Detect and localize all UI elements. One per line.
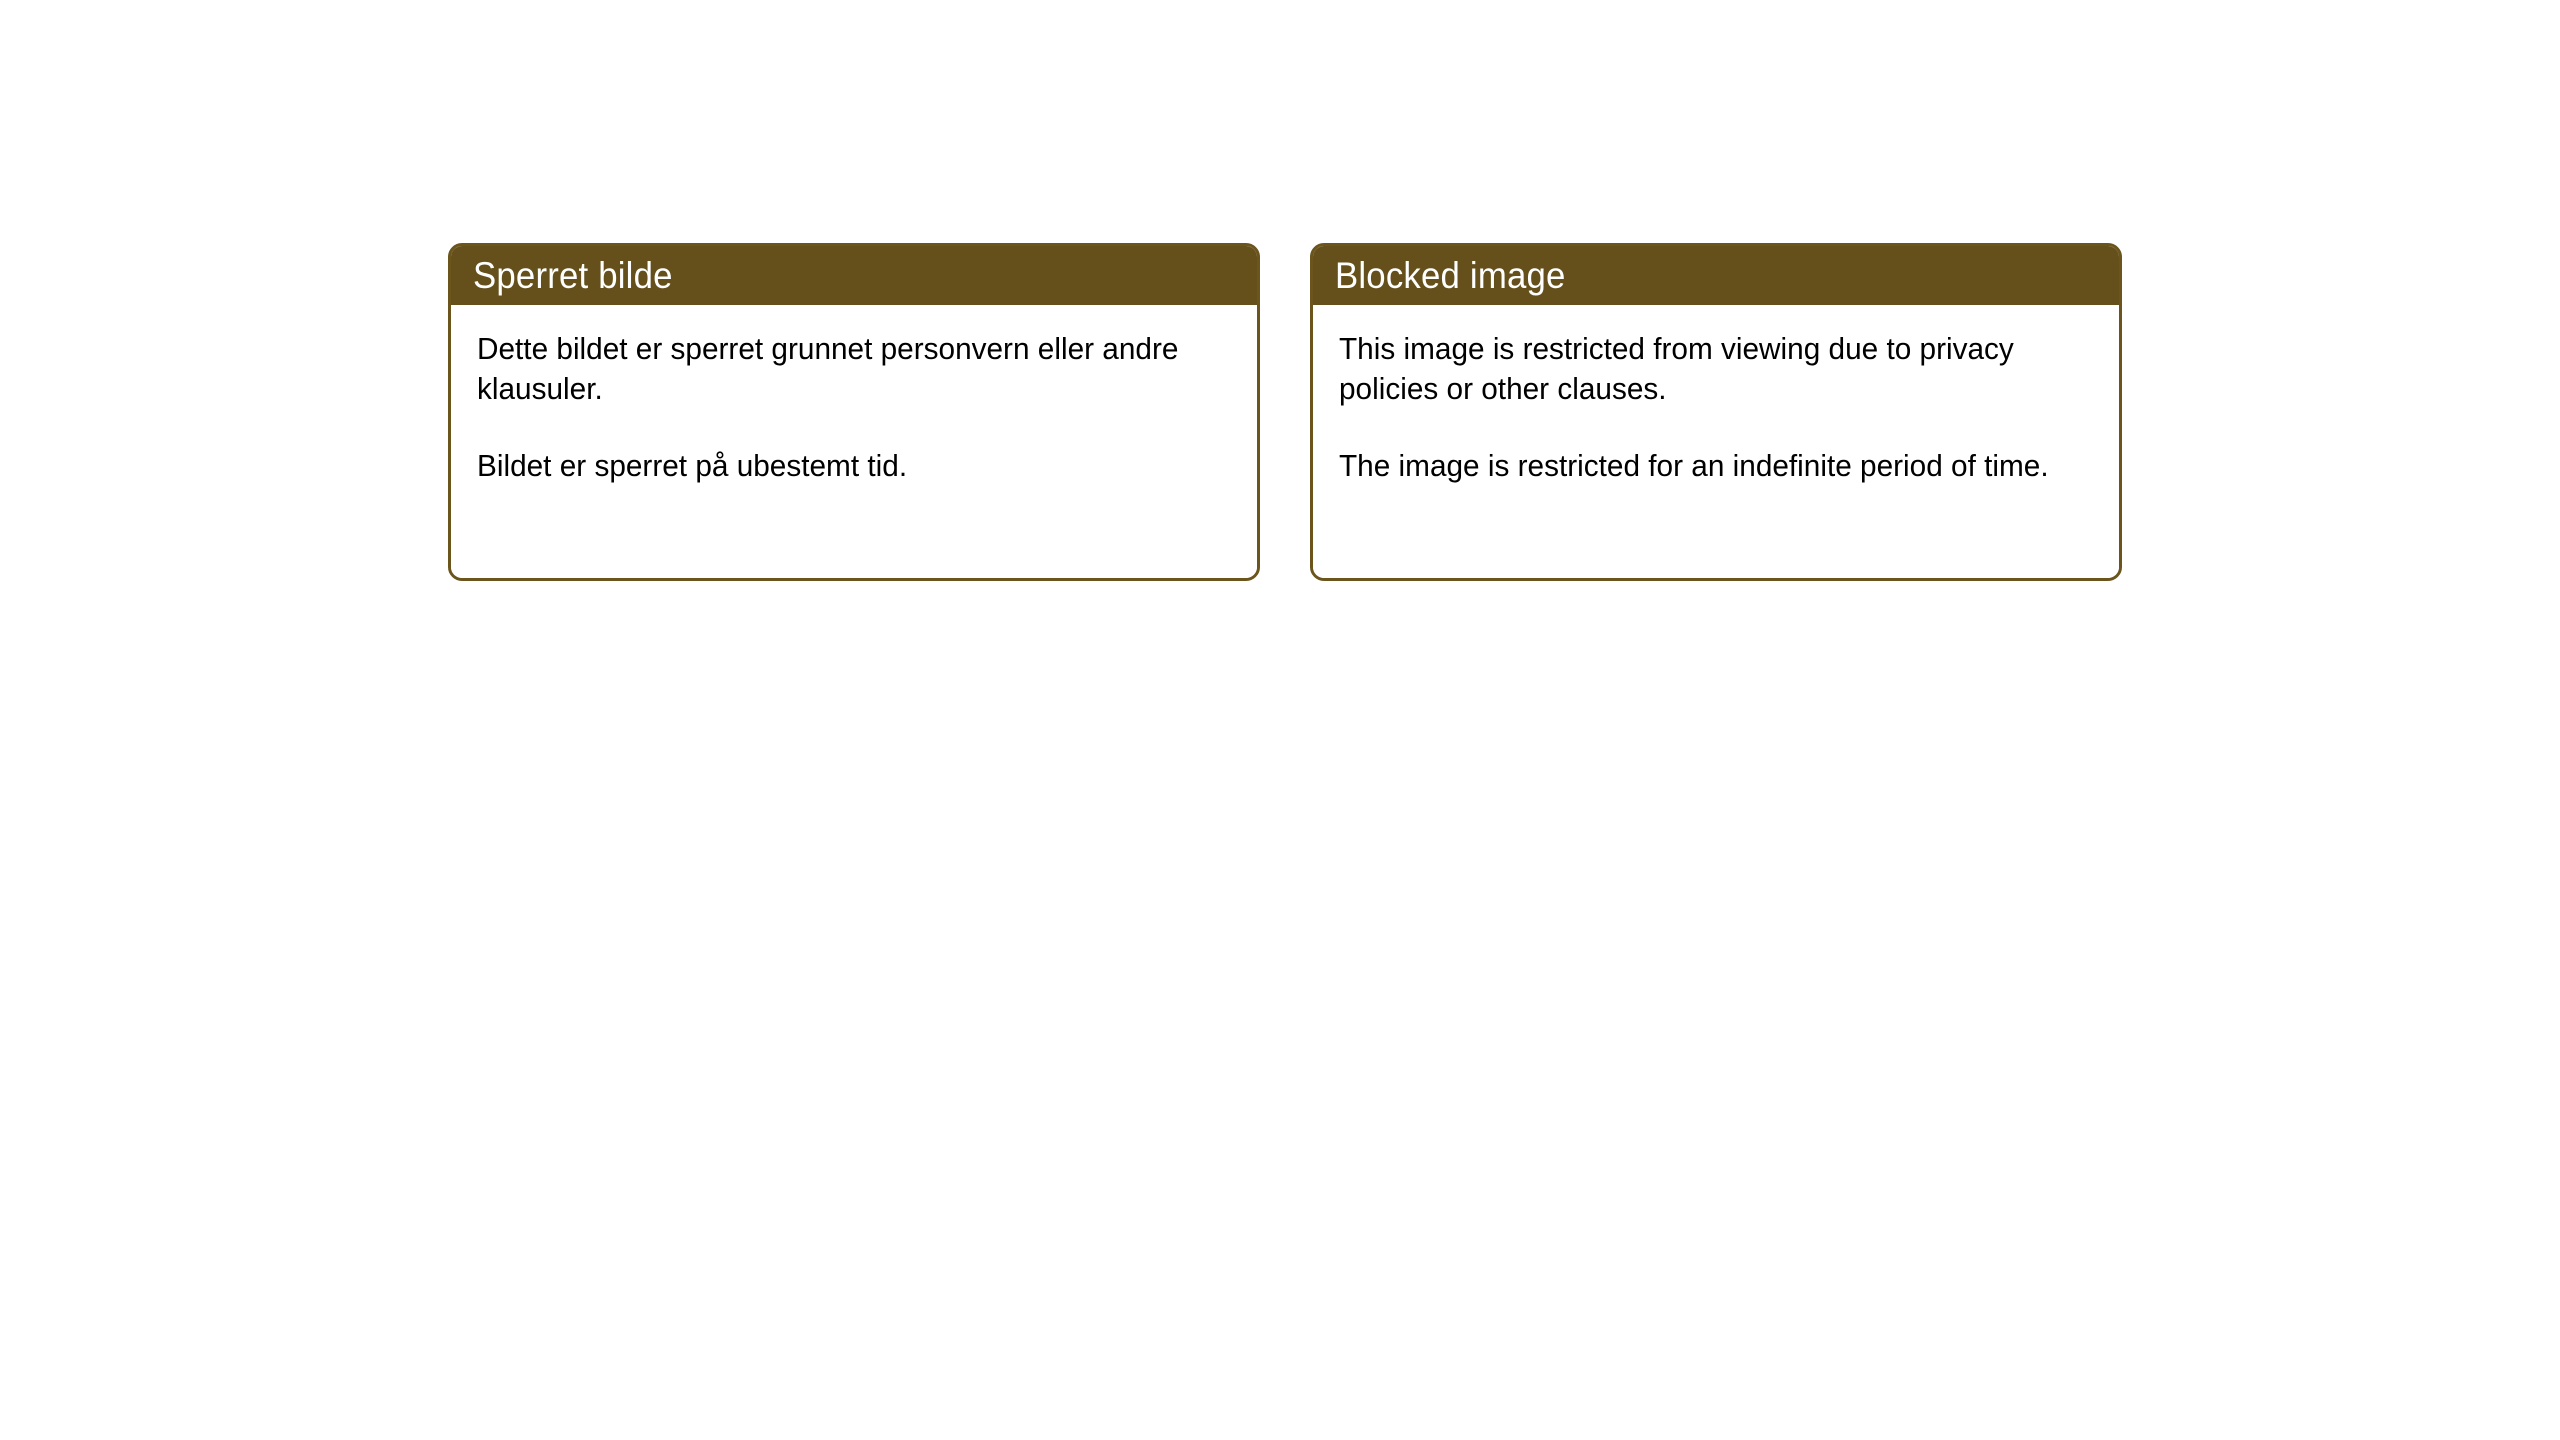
notice-body-english: This image is restricted from viewing du… <box>1313 305 2119 578</box>
notice-title-norwegian: Sperret bilde <box>473 257 673 294</box>
notice-header-norwegian: Sperret bilde <box>451 246 1257 305</box>
blocked-image-notice-norwegian: Sperret bilde Dette bildet er sperret gr… <box>448 243 1260 581</box>
blocked-image-notice-english: Blocked image This image is restricted f… <box>1310 243 2122 581</box>
notice-title-english: Blocked image <box>1335 257 1566 294</box>
notice-paragraph-secondary-norwegian: Bildet er sperret på ubestemt tid. <box>477 446 1201 486</box>
notice-header-english: Blocked image <box>1313 246 2119 305</box>
notice-paragraph-primary-norwegian: Dette bildet er sperret grunnet personve… <box>477 329 1201 408</box>
notice-paragraph-secondary-english: The image is restricted for an indefinit… <box>1339 446 2063 486</box>
page-canvas: Sperret bilde Dette bildet er sperret gr… <box>0 0 2560 1440</box>
notice-paragraph-primary-english: This image is restricted from viewing du… <box>1339 329 2063 408</box>
notice-body-norwegian: Dette bildet er sperret grunnet personve… <box>451 305 1257 578</box>
